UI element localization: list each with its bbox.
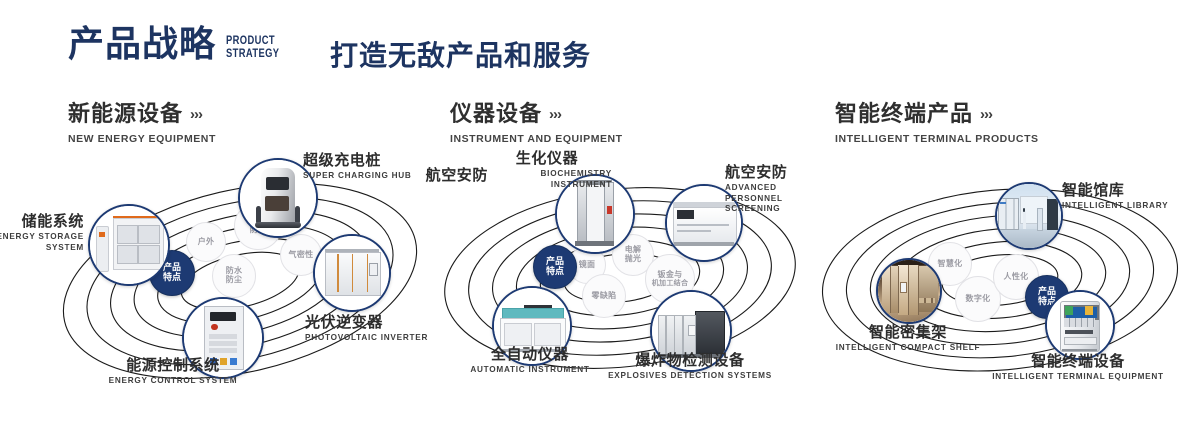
feature-bubble-text: 气密性 — [289, 251, 314, 260]
battery-cabinet-image — [90, 206, 168, 284]
page-title: 产品战略 PRODUCT STRATEGY — [68, 26, 294, 62]
node-label-cn: 光伏逆变器 — [305, 314, 428, 331]
label-automatic-instrument: 全自动仪器 AUTOMATIC INSTRUMENT — [450, 346, 610, 376]
node-label-cn: 航空安防 — [408, 167, 488, 184]
node-label-en: ENERGY CONTROL SYSTEM — [88, 376, 258, 386]
node-label-cn: 智能馆库 — [1062, 182, 1168, 199]
label-explosives-detection-systems: 爆炸物检测设备 EXPLOSIVES DETECTION SYSTEMS — [606, 352, 774, 382]
node-intelligent-library[interactable] — [995, 182, 1063, 250]
node-label-cn: 智能终端设备 — [988, 353, 1168, 370]
terminal-kiosk-image — [1047, 292, 1113, 358]
cluster-new-energy: 户外 防腐 防锈 防水 防尘 气密性 产品 特点 储能系统 — [40, 150, 440, 412]
page-title-cn: 产品战略 — [68, 26, 216, 62]
feature-bubble-text: 数字化 — [966, 295, 991, 304]
feature-bubble-text: 防尘 — [226, 276, 243, 285]
section-heading-intelligent-terminal: 智能终端产品››› INTELLIGENT TERMINAL PRODUCTS — [835, 96, 1039, 145]
chevron-right-icon: ››› — [980, 106, 992, 123]
node-label-cn: 储能系统 — [0, 213, 84, 230]
section-heading-en: NEW ENERGY EQUIPMENT — [68, 133, 216, 145]
node-intelligent-terminal-equipment[interactable] — [1045, 290, 1115, 360]
feature-bubble-text: 钣金与 — [658, 271, 683, 280]
feature-bubble-text: 人性化 — [1004, 273, 1029, 282]
node-label-en: EXPLOSIVES DETECTION SYSTEMS — [606, 371, 774, 381]
page-slogan: 打造无敌产品和服务 — [330, 34, 591, 74]
center-bubble-line2: 特点 — [546, 267, 564, 277]
label-intelligent-compact-shelf: 智能密集架 INTELLIGENT COMPACT SHELF — [828, 324, 988, 354]
node-label-en: INTELLIGENT LIBRARY — [1062, 201, 1168, 211]
feature-bubble-text: 户外 — [198, 238, 215, 247]
cluster-instrument: 镜面 电解 抛光 零缺陷 钣金与 机加工结合 产品 特点 航空安防 — [420, 150, 820, 412]
label-aviation-security-extra: 航空安防 — [408, 167, 488, 184]
label-intelligent-terminal-equipment: 智能终端设备 INTELLIGENT TERMINAL EQUIPMENT — [988, 353, 1168, 383]
feature-bubble-text: 镜面 — [579, 261, 596, 270]
node-label-en: ENERGY STORAGE SYSTEM — [0, 232, 84, 253]
label-energy-control-system: 能源控制系统 ENERGY CONTROL SYSTEM — [88, 357, 258, 387]
section-heading-cn-text: 仪器设备 — [450, 101, 542, 126]
section-heading-cn: 仪器设备››› — [450, 96, 623, 128]
node-label-en: INTELLIGENT TERMINAL EQUIPMENT — [988, 372, 1168, 382]
feature-bubble-text: 零缺陷 — [592, 292, 617, 301]
feature-bubble: 零缺陷 — [582, 274, 626, 318]
label-super-charging-hub: 超级充电桩 SUPER CHARGING HUB — [303, 152, 412, 182]
node-label-cn: 生化仪器 — [482, 150, 612, 167]
feature-bubble-text: 抛光 — [625, 255, 642, 264]
node-label-en: SUPER CHARGING HUB — [303, 171, 412, 181]
feature-bubble: 防水 防尘 — [212, 254, 256, 298]
library-interior-image — [997, 184, 1061, 248]
label-photovoltaic-inverter: 光伏逆变器 PHOTOVOLTAIC INVERTER — [305, 314, 428, 344]
node-intelligent-compact-shelf[interactable] — [876, 258, 942, 324]
node-label-cn: 爆炸物检测设备 — [606, 352, 774, 369]
section-heading-cn: 新能源设备››› — [68, 96, 216, 128]
pv-inverter-image — [315, 236, 389, 310]
page-title-en: PRODUCT STRATEGY — [226, 34, 279, 60]
section-heading-cn-text: 智能终端产品 — [835, 101, 973, 126]
node-label-cn: 超级充电桩 — [303, 152, 412, 169]
section-heading-en: INTELLIGENT TERMINAL PRODUCTS — [835, 133, 1039, 145]
node-label-en: AUTOMATIC INSTRUMENT — [450, 365, 610, 375]
chevron-right-icon: ››› — [190, 106, 202, 123]
node-label-en: BIOCHEMISTRY INSTRUMENT — [482, 169, 612, 190]
node-label-cn: 全自动仪器 — [450, 346, 610, 363]
node-label-cn: 能源控制系统 — [88, 357, 258, 374]
section-heading-new-energy: 新能源设备››› NEW ENERGY EQUIPMENT — [68, 96, 216, 145]
node-label-en: PHOTOVOLTAIC INVERTER — [305, 333, 428, 343]
section-heading-en: INSTRUMENT AND EQUIPMENT — [450, 133, 623, 145]
chevron-right-icon: ››› — [549, 106, 561, 123]
compact-shelf-image — [878, 260, 940, 322]
node-photovoltaic-inverter[interactable] — [313, 234, 391, 312]
feature-bubble-text: 机加工结合 — [652, 280, 689, 288]
page-title-en-line2: STRATEGY — [226, 47, 279, 60]
feature-bubble: 户外 — [186, 222, 226, 262]
product-strategy-infographic: 产品战略 PRODUCT STRATEGY 打造无敌产品和服务 新能源设备›››… — [0, 0, 1200, 422]
label-energy-storage-system: 储能系统 ENERGY STORAGE SYSTEM — [0, 213, 84, 253]
cluster-intelligent-terminal: 智慧化 数字化 人性化 产品 特点 智能馆库 INTELLIGENT LIBRA… — [800, 150, 1200, 412]
section-heading-cn-text: 新能源设备 — [68, 101, 183, 126]
label-biochemistry-instrument: 生化仪器 BIOCHEMISTRY INSTRUMENT — [482, 150, 612, 190]
node-label-en: INTELLIGENT COMPACT SHELF — [828, 343, 988, 353]
section-heading-cn: 智能终端产品››› — [835, 96, 1039, 128]
node-label-cn: 智能密集架 — [828, 324, 988, 341]
label-intelligent-library: 智能馆库 INTELLIGENT LIBRARY — [1062, 182, 1168, 212]
section-heading-instrument: 仪器设备››› INSTRUMENT AND EQUIPMENT — [450, 96, 623, 145]
node-energy-storage-system[interactable] — [88, 204, 170, 286]
feature-bubble-text: 智慧化 — [938, 260, 963, 269]
